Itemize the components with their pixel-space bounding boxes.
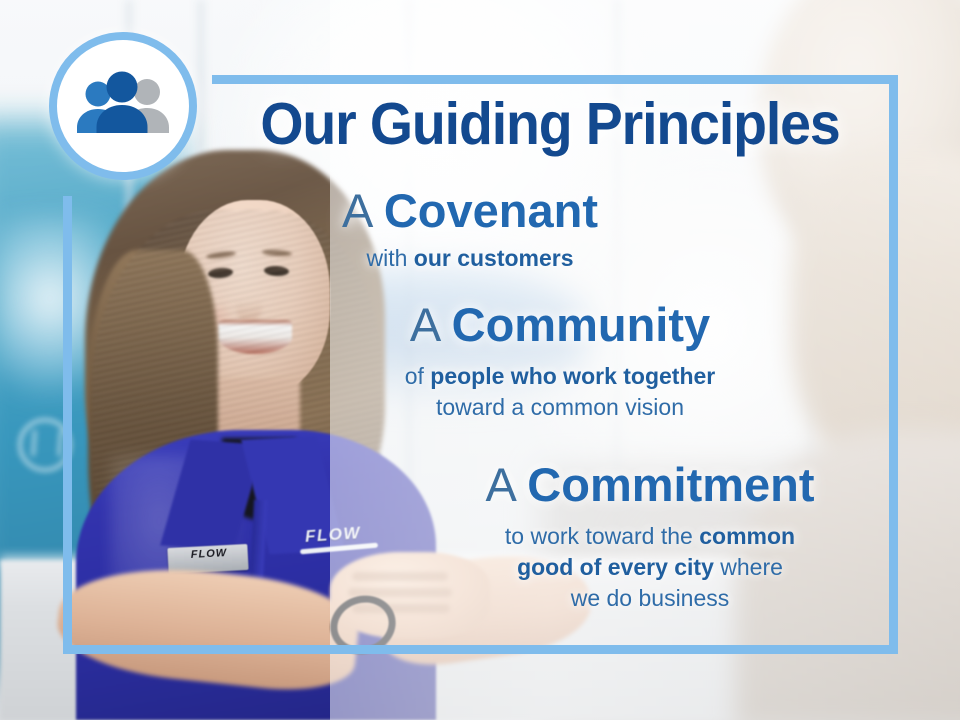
icon-circle-badge — [49, 32, 197, 180]
frame-border-top — [212, 75, 898, 84]
principle-article: A — [342, 184, 371, 237]
principle-title: A Community — [310, 300, 810, 349]
page-title: Our Guiding Principles — [230, 95, 869, 154]
guiding-principles-graphic: FLOW FLOW — [0, 0, 960, 720]
principle-title: A Covenant — [240, 186, 700, 235]
principle-article: A — [485, 458, 514, 511]
principle-keyword: Covenant — [384, 184, 598, 237]
principle-article: A — [410, 298, 439, 351]
frame-border-left — [63, 196, 72, 654]
principle-keyword: Community — [452, 298, 711, 351]
principle-covenant: A Covenant with our customers — [240, 186, 700, 274]
people-group-icon — [71, 71, 175, 141]
principle-title: A Commitment — [400, 460, 900, 509]
principle-commitment: A Commitment to work toward the commongo… — [400, 460, 900, 613]
principle-body: with our customers — [240, 243, 700, 274]
principle-keyword: Commitment — [527, 458, 814, 511]
principle-body: to work toward the commongood of every c… — [400, 521, 900, 613]
frame-border-bottom — [63, 645, 898, 654]
shirt-logo-text: FLOW — [304, 523, 361, 547]
principle-community: A Community of people who work togethert… — [310, 300, 810, 423]
principle-body: of people who work togethertoward a comm… — [310, 361, 810, 422]
